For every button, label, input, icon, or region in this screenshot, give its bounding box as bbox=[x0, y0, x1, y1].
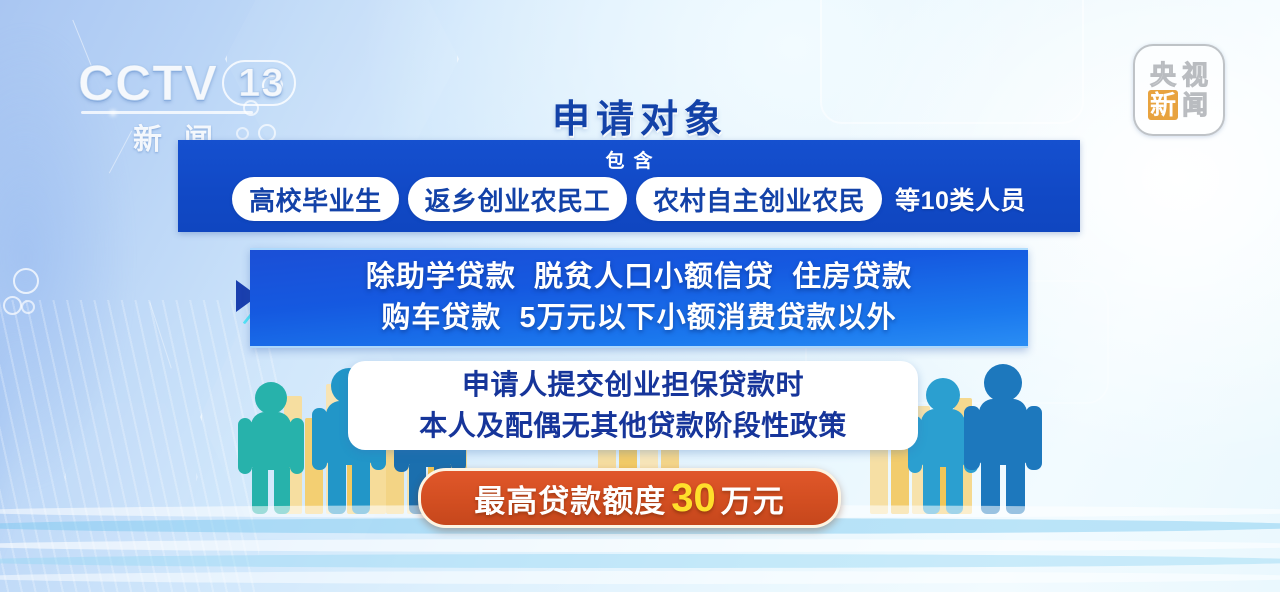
app-badge-char-yang: 央 bbox=[1148, 60, 1178, 90]
policy-panel: 申请人提交创业担保贷款时 本人及配偶无其他贷款阶段性政策 bbox=[348, 361, 918, 450]
max-loan-prefix: 最高贷款额度 bbox=[474, 476, 666, 521]
infographic-stage: CCTV13 新闻 央 视 新 闻 申请对象 包含 高校毕业生 返乡创业农民工 … bbox=[0, 0, 1280, 592]
page-title: 申请对象 bbox=[0, 88, 1280, 143]
group-pill-returning-workers[interactable]: 返乡创业农民工 bbox=[408, 177, 628, 221]
included-pill-row: 高校毕业生 返乡创业农民工 农村自主创业农民 等10类人员 bbox=[178, 176, 1080, 222]
exclusions-panel-wrap: 除助学贷款 脱贫人口小额信贷 住房贷款 购车贷款 5万元以下小额消费贷款以外 bbox=[232, 248, 1028, 344]
max-loan-amount-badge: 最高贷款额度 30 万元 bbox=[418, 468, 841, 528]
included-groups-panel: 包含 高校毕业生 返乡创业农民工 农村自主创业农民 等10类人员 bbox=[178, 140, 1080, 232]
circle-decor-5 bbox=[13, 268, 39, 294]
included-suffix: 等10类人员 bbox=[895, 181, 1026, 217]
group-pill-graduates[interactable]: 高校毕业生 bbox=[232, 177, 399, 221]
max-loan-unit: 万元 bbox=[721, 476, 785, 521]
max-loan-amount: 30 bbox=[671, 478, 716, 518]
exclusions-line-2: 购车贷款 5万元以下小额消费贷款以外 bbox=[381, 298, 896, 339]
policy-line-2: 本人及配偶无其他贷款阶段性政策 bbox=[419, 406, 847, 447]
exclusions-line-1: 除助学贷款 脱贫人口小额信贷 住房贷款 bbox=[366, 257, 912, 298]
policy-line-1: 申请人提交创业担保贷款时 bbox=[462, 365, 804, 406]
group-pill-rural-entrepreneurs[interactable]: 农村自主创业农民 bbox=[636, 177, 882, 221]
circle-decor-6 bbox=[3, 296, 22, 315]
circle-decor-7 bbox=[21, 300, 35, 314]
exclusions-panel: 除助学贷款 脱贫人口小额信贷 住房贷款 购车贷款 5万元以下小额消费贷款以外 bbox=[250, 248, 1028, 348]
included-heading: 包含 bbox=[178, 146, 1080, 173]
app-badge-char-shi: 视 bbox=[1180, 60, 1210, 90]
app-badge-row-1: 央 视 bbox=[1148, 60, 1210, 90]
